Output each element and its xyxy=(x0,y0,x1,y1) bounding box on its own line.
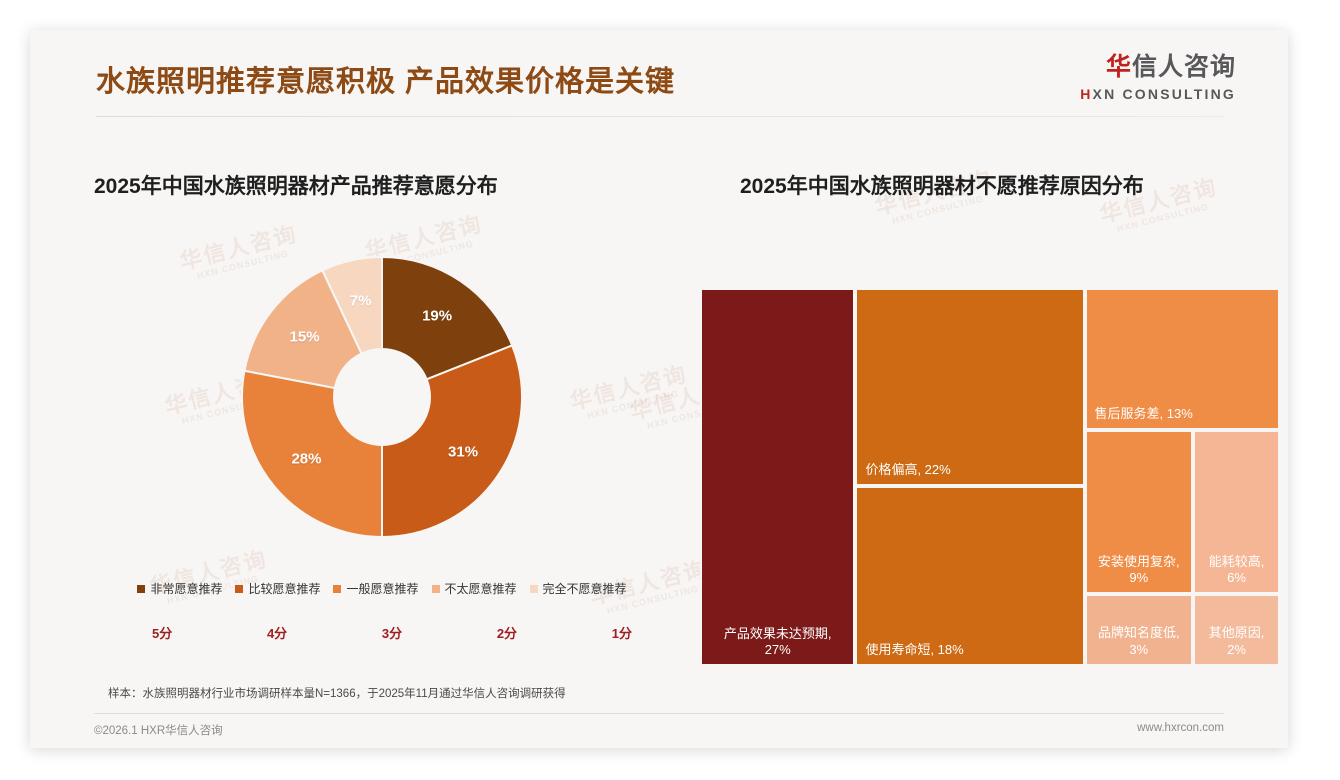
score-label: 3分 xyxy=(382,623,402,642)
legend-item[interactable]: 一般愿意推荐 xyxy=(333,580,418,597)
left-chart-title: 2025年中国水族照明器材产品推荐意愿分布 xyxy=(94,170,498,200)
legend-item[interactable]: 不太愿意推荐 xyxy=(432,580,517,597)
legend-item[interactable]: 非常愿意推荐 xyxy=(137,580,222,597)
donut-slice-label: 31% xyxy=(448,444,478,461)
treemap-tile[interactable]: 使用寿命短, 18% xyxy=(855,486,1084,666)
donut-slice-label: 19% xyxy=(422,307,452,324)
treemap-tile[interactable]: 品牌知名度低, 3% xyxy=(1085,594,1193,666)
treemap-tile-label: 产品效果未达预期, 27% xyxy=(702,626,853,659)
legend-item[interactable]: 完全不愿意推荐 xyxy=(530,580,627,597)
legend-label: 比较愿意推荐 xyxy=(248,580,320,597)
treemap-tile[interactable]: 价格偏高, 22% xyxy=(855,288,1084,486)
treemap-tile[interactable]: 能耗较高, 6% xyxy=(1193,430,1280,594)
slide-header: 水族照明推荐意愿积极 产品效果价格是关键 华信人咨询 HXN CONSULTIN… xyxy=(30,30,1288,117)
treemap-chart: 产品效果未达预期, 27%价格偏高, 22%使用寿命短, 18%售后服务差, 1… xyxy=(700,288,1280,666)
logo-en-accent: H xyxy=(1080,86,1092,102)
score-scale: 5分4分3分2分1分 xyxy=(152,623,632,642)
legend-swatch-icon xyxy=(333,585,341,593)
treemap-tile-label: 售后服务差, 13% xyxy=(1087,406,1278,422)
legend-label: 完全不愿意推荐 xyxy=(543,580,627,597)
treemap-tile[interactable]: 产品效果未达预期, 27% xyxy=(700,288,855,666)
donut-slice-label: 15% xyxy=(290,328,320,345)
source-note: 样本：水族照明器材行业市场调研样本量N=1366，于2025年11月通过华信人咨… xyxy=(108,685,566,701)
right-chart-title: 2025年中国水族照明器材不愿推荐原因分布 xyxy=(740,170,1144,200)
treemap-tile-label: 价格偏高, 22% xyxy=(857,462,1082,478)
footer-website: www.hxrcon.com xyxy=(1137,722,1224,734)
logo-chinese-name: 华信人咨询 xyxy=(1080,54,1236,82)
treemap-tile-label: 安装使用复杂, 9% xyxy=(1087,554,1191,587)
legend-item[interactable]: 比较愿意推荐 xyxy=(235,580,320,597)
donut-legend: 非常愿意推荐比较愿意推荐一般愿意推荐不太愿意推荐完全不愿意推荐 xyxy=(92,580,672,597)
footer-divider xyxy=(94,713,1224,714)
treemap-tile-label: 品牌知名度低, 3% xyxy=(1087,625,1191,658)
logo-en-rest: XN CONSULTING xyxy=(1093,86,1236,102)
legend-label: 不太愿意推荐 xyxy=(445,580,517,597)
donut-hole xyxy=(333,348,431,446)
donut-slice-label: 7% xyxy=(350,293,372,310)
donut-slice-label: 28% xyxy=(291,451,321,468)
score-label: 4分 xyxy=(267,623,287,642)
page-title: 水族照明推荐意愿积极 产品效果价格是关键 xyxy=(96,58,675,100)
score-label: 5分 xyxy=(152,623,172,642)
donut-chart: 19%31%28%15%7% 非常愿意推荐比较愿意推荐一般愿意推荐不太愿意推荐完… xyxy=(92,245,672,645)
legend-label: 非常愿意推荐 xyxy=(150,580,222,597)
legend-label: 一般愿意推荐 xyxy=(346,580,418,597)
treemap-tile[interactable]: 其他原因, 2% xyxy=(1193,594,1280,666)
score-label: 1分 xyxy=(612,623,632,642)
legend-swatch-icon xyxy=(137,585,145,593)
treemap-tile[interactable]: 安装使用复杂, 9% xyxy=(1085,430,1193,594)
logo-accent-char: 华 xyxy=(1106,53,1132,81)
legend-swatch-icon xyxy=(235,585,243,593)
score-label: 2分 xyxy=(497,623,517,642)
slide-canvas: 华信人咨询HXN CONSULTING 华信人咨询HXN CONSULTING … xyxy=(30,30,1288,748)
treemap-tile-label: 能耗较高, 6% xyxy=(1195,554,1278,587)
legend-swatch-icon xyxy=(432,585,440,593)
footer-copyright: ©2026.1 HXR华信人咨询 xyxy=(94,722,223,738)
donut-graphic: 19%31%28%15%7% xyxy=(240,255,524,539)
logo-english-name: HXN CONSULTING xyxy=(1080,86,1236,102)
treemap-tile-label: 使用寿命短, 18% xyxy=(857,642,1082,658)
company-logo: 华信人咨询 HXN CONSULTING xyxy=(1080,54,1236,102)
treemap-tile-label: 其他原因, 2% xyxy=(1195,625,1278,658)
header-divider xyxy=(96,116,1224,117)
donut-svg xyxy=(240,255,524,539)
logo-name-rest: 信人咨询 xyxy=(1132,53,1236,81)
legend-swatch-icon xyxy=(530,585,538,593)
treemap-tile[interactable]: 售后服务差, 13% xyxy=(1085,288,1280,430)
